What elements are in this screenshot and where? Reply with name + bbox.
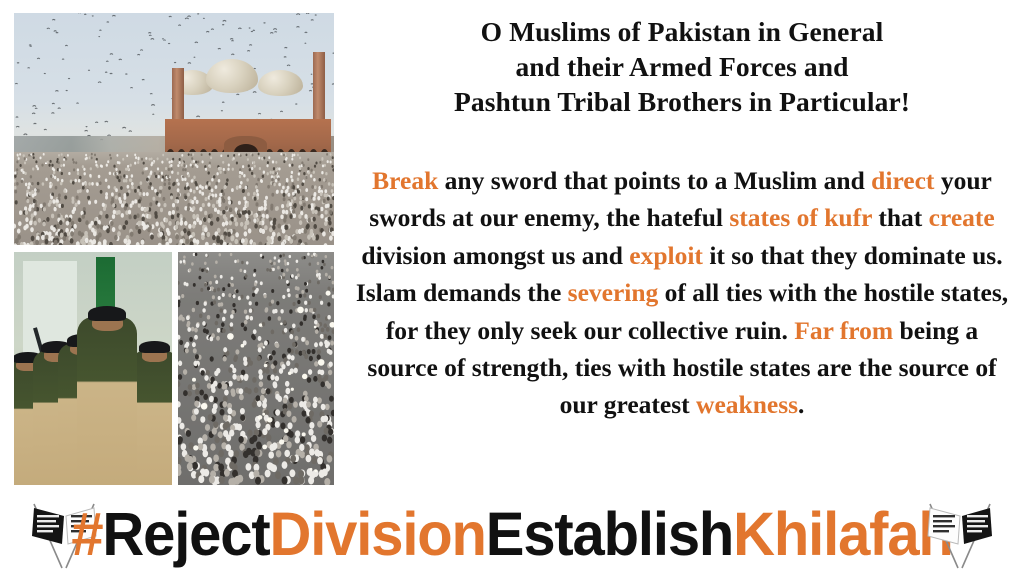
hashtag-part: Division <box>270 492 486 576</box>
praying-crowd-layer <box>14 152 334 245</box>
highlighted-phrase: create <box>929 203 995 232</box>
poster-canvas: O Muslims of Pakistan in General and the… <box>0 0 1024 576</box>
image-alt-soldiers: Rank of soldiers in green camouflage jac… <box>0 0 1 1</box>
highlighted-phrase: severing <box>568 278 659 307</box>
highlighted-phrase: states of kufr <box>729 203 872 232</box>
crowd-layer <box>178 252 334 485</box>
heading-line-3: Pashtun Tribal Brothers in Particular! <box>346 84 1018 119</box>
dome-center <box>206 59 258 92</box>
crossed-flags-right-icon <box>912 496 1008 570</box>
body-text-run: division amongst us and <box>361 241 629 270</box>
soldier-beret <box>139 341 169 353</box>
crowd-rally-photo <box>178 252 334 485</box>
body-text-run: . <box>798 390 804 419</box>
highlighted-phrase: direct <box>871 166 934 195</box>
highlighted-phrase: weakness <box>696 390 798 419</box>
mosque-congregation-photo <box>14 13 334 245</box>
hashtag-part: Reject <box>102 492 269 576</box>
hashtag-part: # <box>71 492 102 576</box>
body-text-run: any sword that points to a Muslim and <box>438 166 871 195</box>
hashtag-banner: #RejectDivisionEstablishKhilafah <box>0 492 1024 576</box>
mosque-structure <box>161 52 334 163</box>
highlighted-phrase: exploit <box>629 241 703 270</box>
soldier-figure <box>131 351 172 485</box>
photo-collage <box>14 13 334 485</box>
page-title: O Muslims of Pakistan in General and the… <box>346 14 1018 119</box>
soldier-figure <box>77 317 137 485</box>
marching-soldiers-photo <box>14 252 172 485</box>
body-paragraph: Break any sword that points to a Muslim … <box>350 162 1014 424</box>
heading-line-1: O Muslims of Pakistan in General <box>346 14 1018 49</box>
text-column: O Muslims of Pakistan in General and the… <box>346 0 1018 492</box>
highlighted-phrase: Break <box>372 166 438 195</box>
heading-line-2: and their Armed Forces and <box>346 49 1018 84</box>
hashtag-part: Establish <box>486 492 733 576</box>
highlighted-phrase: Far from <box>794 316 893 345</box>
image-alt-rally: Dense crowd at a night rally holding up … <box>0 0 1 1</box>
soldier-rank <box>14 317 172 485</box>
image-alt-mosque: Huge congregation of worshippers praying… <box>0 0 1 1</box>
hashtag-text: #RejectDivisionEstablishKhilafah <box>26 492 999 576</box>
soldier-beret <box>88 306 126 321</box>
body-text-run: that <box>872 203 929 232</box>
dome-right <box>258 70 303 96</box>
